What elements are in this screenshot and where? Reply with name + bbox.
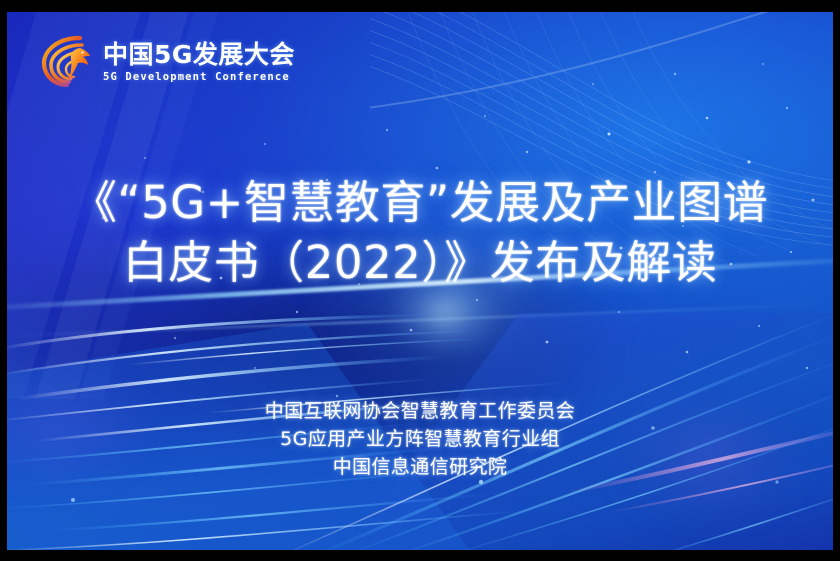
credit-line-1: 中国互联网协会智慧教育工作委员会 bbox=[7, 397, 833, 425]
title-line-2: 白皮书（2022）》发布及解读 bbox=[7, 233, 833, 293]
title-line-1: 《“5G+智慧教育”发展及产业图谱 bbox=[7, 173, 833, 233]
slide-stage: 中国5G发展大会 5G Development Conference 《“5G+… bbox=[7, 12, 833, 550]
background-light-beam-secondary bbox=[7, 303, 832, 337]
logo-chinese-name: 中国5G发展大会 bbox=[103, 42, 295, 67]
logo-text: 中国5G发展大会 5G Development Conference bbox=[103, 40, 295, 83]
conference-logo: 中国5G发展大会 5G Development Conference bbox=[40, 32, 295, 90]
slide-title: 《“5G+智慧教育”发展及产业图谱 白皮书（2022）》发布及解读 bbox=[7, 173, 833, 293]
credit-line-2: 5G应用产业方阵智慧教育行业组 bbox=[7, 425, 833, 453]
slide-frame: 中国5G发展大会 5G Development Conference 《“5G+… bbox=[0, 0, 840, 561]
logo-english-name: 5G Development Conference bbox=[103, 72, 295, 83]
organization-credits: 中国互联网协会智慧教育工作委员会 5G应用产业方阵智慧教育行业组 中国信息通信研… bbox=[7, 397, 833, 481]
phoenix-swirl-logo-icon bbox=[40, 32, 94, 90]
credit-line-3: 中国信息通信研究院 bbox=[7, 453, 833, 481]
